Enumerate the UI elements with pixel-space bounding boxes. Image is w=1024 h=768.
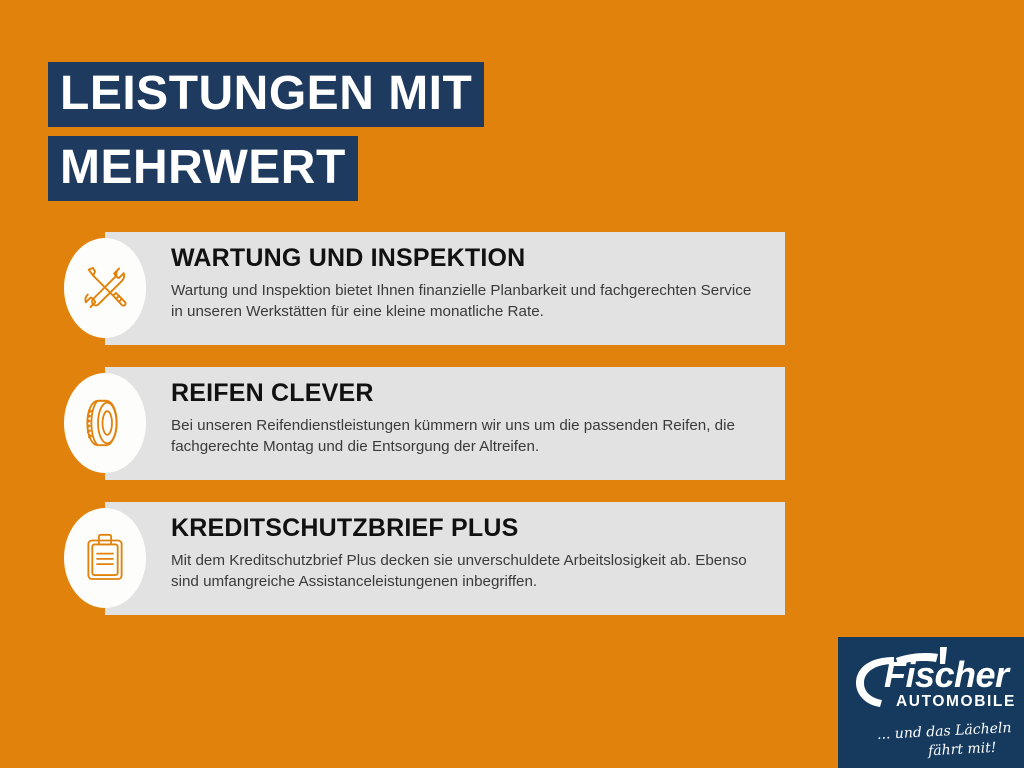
card-title: WARTUNG UND INSPEKTION	[171, 245, 761, 273]
card-title: REIFEN CLEVER	[171, 380, 761, 408]
fischer-automobile-logo: Fischer AUTOMOBILE ... und das Lächeln f…	[838, 637, 1024, 768]
logo-subtitle: AUTOMOBILE	[896, 694, 1016, 710]
service-card-wartung-und-inspektion[interactable]: WARTUNG UND INSPEKTION Wartung und Inspe…	[0, 232, 1024, 345]
card-panel: KREDITSCHUTZBRIEF PLUS Mit dem Kreditsch…	[105, 502, 785, 615]
service-card-reifen-clever[interactable]: REIFEN CLEVER Bei unseren Reifendienstle…	[0, 367, 1024, 480]
page-title: LEISTUNGEN MIT MEHRWERT	[48, 62, 484, 201]
card-panel: WARTUNG UND INSPEKTION Wartung und Inspe…	[105, 232, 785, 345]
card-body: Wartung und Inspektion bietet Ihnen fina…	[171, 280, 761, 323]
service-card-kreditschutzbrief-plus[interactable]: KREDITSCHUTZBRIEF PLUS Mit dem Kreditsch…	[0, 502, 1024, 615]
logo-brand-name: Fischer	[884, 657, 1009, 693]
logo-tagline: ... und das Lächeln fährt mit!	[851, 719, 1019, 765]
tools-icon	[76, 259, 134, 317]
card-icon-badge	[64, 373, 146, 473]
card-panel: REIFEN CLEVER Bei unseren Reifendienstle…	[105, 367, 785, 480]
tire-icon	[76, 394, 134, 452]
clipboard-icon	[77, 530, 133, 586]
card-body: Bei unseren Reifendienstleistungen kümme…	[171, 415, 761, 458]
card-title: KREDITSCHUTZBRIEF PLUS	[171, 515, 761, 543]
service-card-list: WARTUNG UND INSPEKTION Wartung und Inspe…	[0, 232, 1024, 637]
card-icon-badge	[64, 238, 146, 338]
page-title-line-1: LEISTUNGEN MIT	[48, 62, 484, 127]
card-body: Mit dem Kreditschutzbrief Plus decken si…	[171, 550, 761, 593]
page-title-line-2: MEHRWERT	[48, 136, 358, 201]
card-icon-badge	[64, 508, 146, 608]
